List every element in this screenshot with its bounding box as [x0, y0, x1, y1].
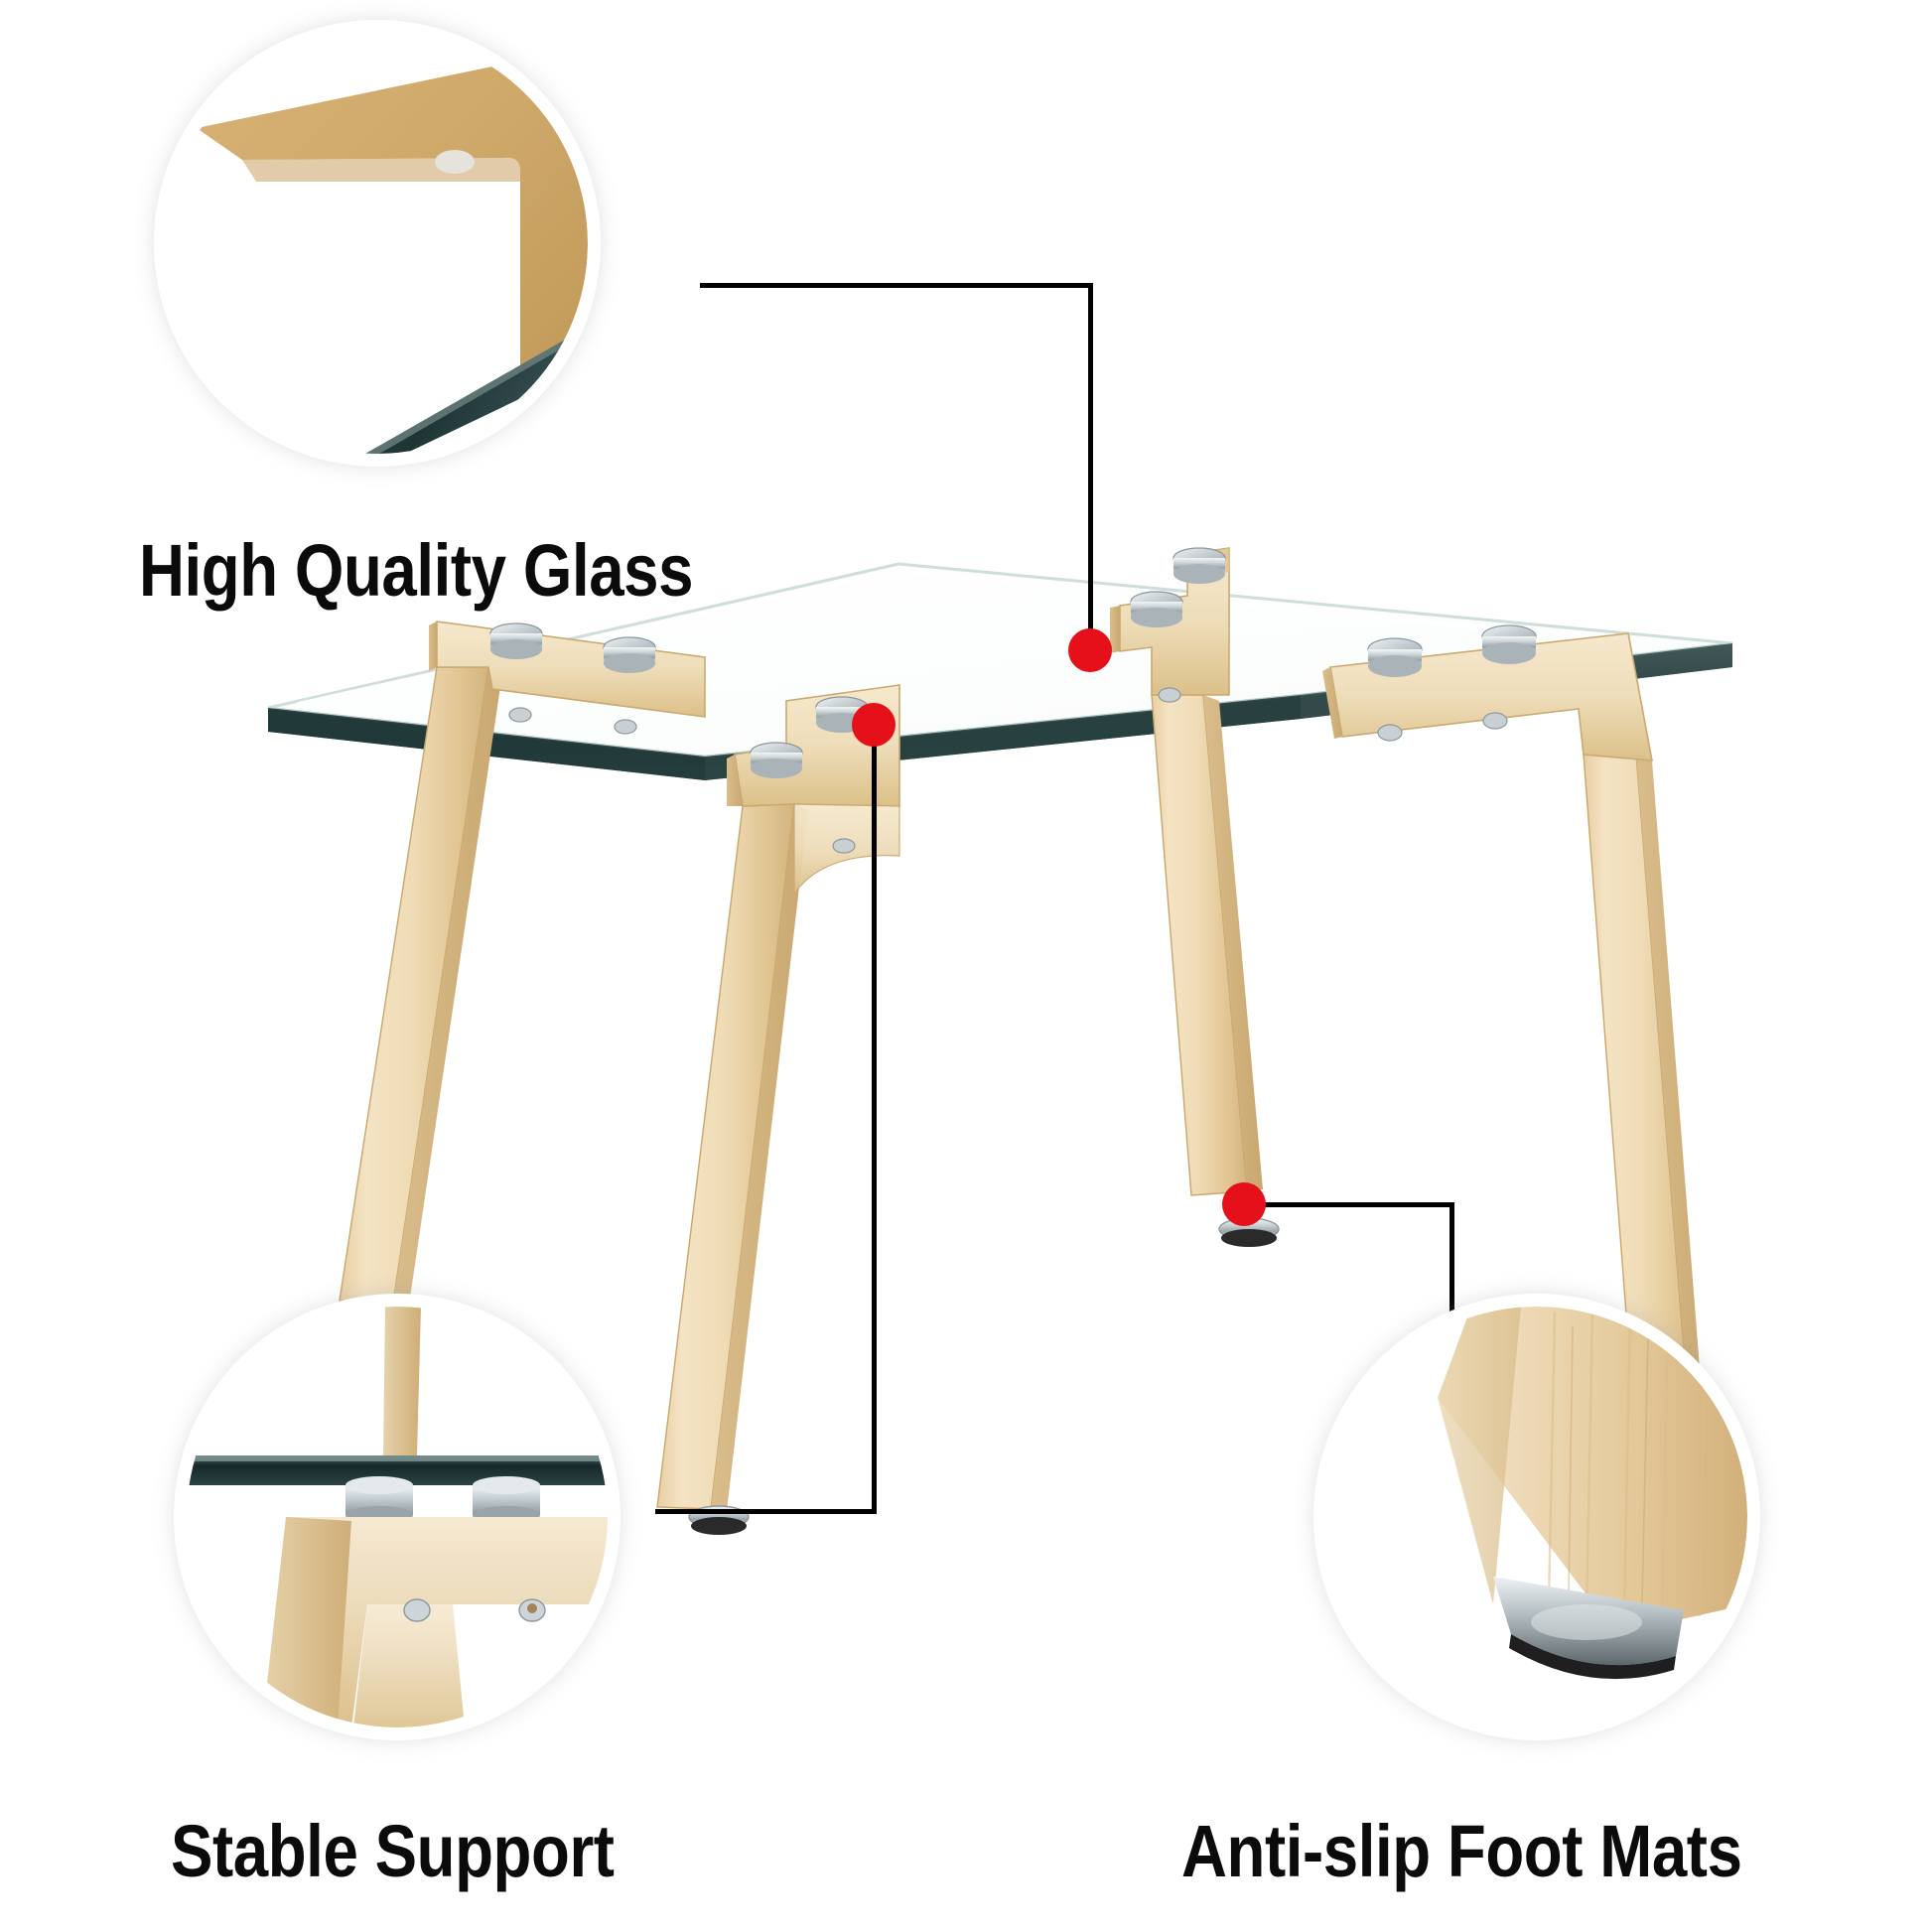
- leg-front-right: [657, 685, 899, 1535]
- leader-line-mats-vertical: [1449, 1202, 1454, 1341]
- chrome-puck: [1173, 548, 1225, 584]
- chrome-puck: [1368, 638, 1422, 677]
- callout-image-high-quality-glass: [167, 33, 588, 454]
- marker-dot-anti-slip-foot-mats[interactable]: [1222, 1182, 1266, 1226]
- chrome-puck: [1482, 625, 1536, 664]
- screw-head: [1378, 725, 1402, 741]
- screw-head: [833, 839, 855, 853]
- feature-label-stable-support: Stable Support: [171, 1815, 615, 1888]
- screw-head: [1159, 688, 1180, 702]
- chrome-puck: [751, 743, 802, 778]
- chrome-puck: [604, 637, 655, 673]
- screw-head: [1483, 713, 1507, 729]
- feature-label-high-quality-glass: High Quality Glass: [139, 534, 693, 608]
- leader-line-glass-vertical: [1088, 283, 1093, 652]
- screw-head: [615, 720, 636, 734]
- callout-stable-support[interactable]: [187, 1307, 608, 1727]
- marker-dot-high-quality-glass[interactable]: [1068, 628, 1112, 672]
- callout-anti-slip-foot-mats[interactable]: [1326, 1307, 1747, 1727]
- leader-line-mats-horizontal: [1244, 1202, 1454, 1207]
- callout-high-quality-glass[interactable]: [167, 33, 588, 454]
- leader-line-support-horizontal: [655, 1509, 876, 1514]
- feature-label-anti-slip-foot-mats: Anti-slip Foot Mats: [1181, 1815, 1742, 1888]
- callout-image-anti-slip-foot-mats: [1326, 1307, 1747, 1727]
- marker-dot-stable-support[interactable]: [852, 703, 896, 747]
- screw-head: [509, 708, 531, 722]
- leader-line-glass-horizontal: [700, 283, 1093, 288]
- chrome-puck: [490, 623, 542, 659]
- leader-line-support-vertical: [872, 725, 877, 1514]
- infographic-canvas: High Quality Glass Stable Support Anti-s…: [0, 0, 1932, 1932]
- chrome-puck: [1131, 592, 1182, 627]
- callout-image-stable-support: [187, 1307, 608, 1727]
